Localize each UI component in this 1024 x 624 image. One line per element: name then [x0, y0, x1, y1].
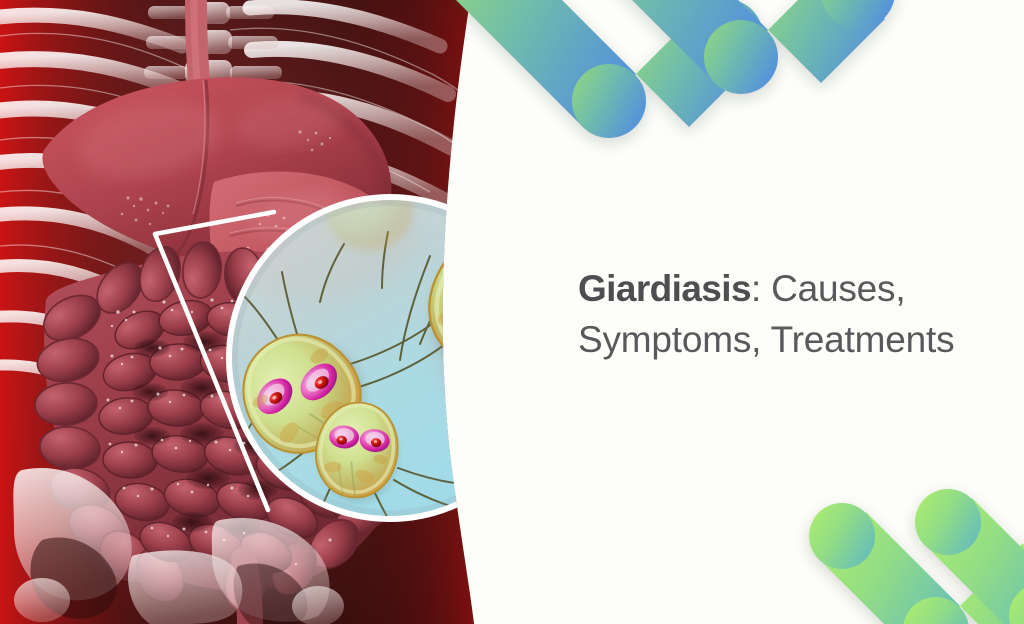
nucleus-pair: [439, 244, 520, 333]
anatomy-illustration-panel: [0, 0, 520, 624]
article-banner: Giardiasis: Causes, Symptoms, Treatments: [0, 0, 1024, 624]
chevron-bottom-right: [809, 489, 1024, 624]
page-title-keyword: Giardiasis: [578, 268, 751, 309]
page-title: Giardiasis: Causes, Symptoms, Treatments: [578, 263, 978, 365]
anatomy-artwork: [0, 0, 520, 624]
